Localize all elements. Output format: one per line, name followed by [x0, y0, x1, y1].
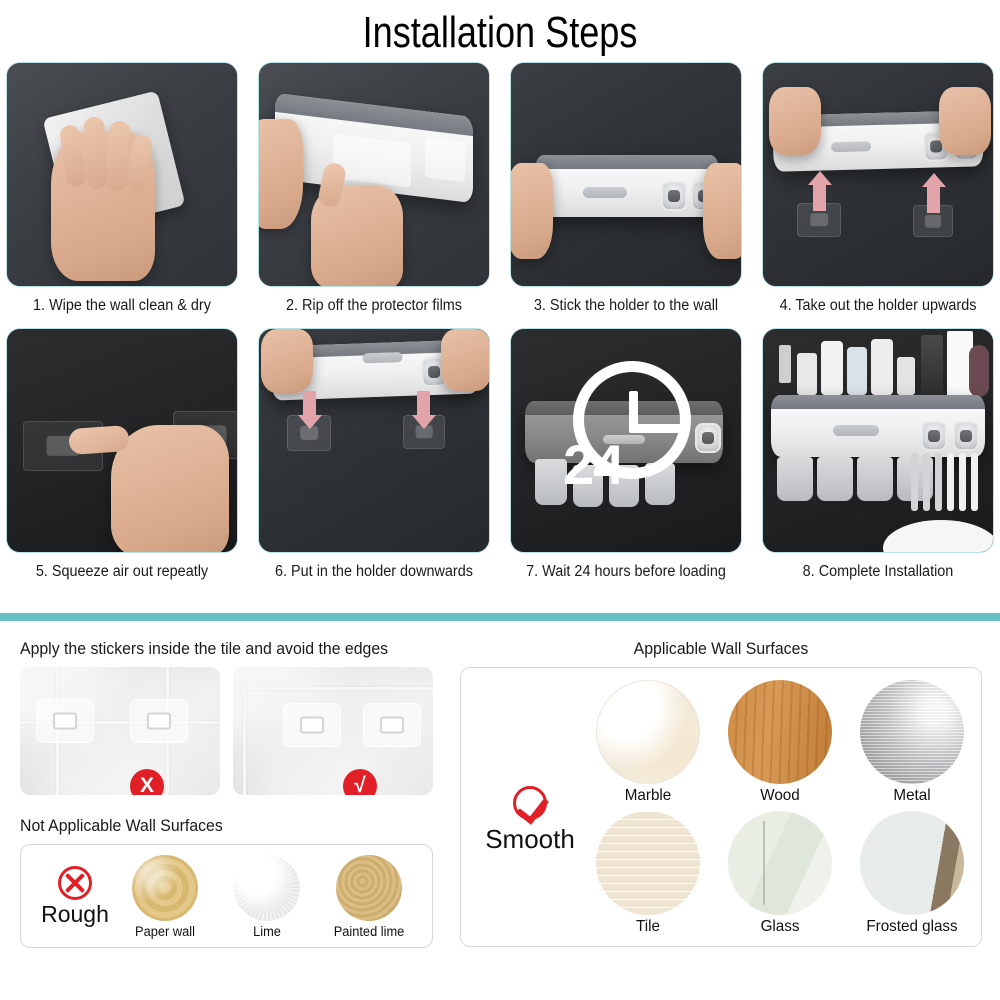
- surface-swatch-wood[interactable]: Wood: [725, 680, 835, 805]
- steps-row-1: 1. Wipe the wall clean & dry 2. Rip off …: [0, 62, 1000, 318]
- step-cell-4: 4. Take out the holder upwards: [755, 62, 1000, 318]
- surface-swatch-tile[interactable]: Tile: [593, 811, 703, 936]
- toiletry-bottle: [821, 341, 843, 395]
- step-photo-8[interactable]: [762, 328, 994, 553]
- sticker-pad-ghost: [36, 699, 94, 743]
- toothpaste-tube: [921, 335, 943, 397]
- page-title: Installation Steps: [90, 0, 910, 62]
- step-caption-3: 3. Stick the holder to the wall: [512, 294, 741, 318]
- glass-texture: [728, 811, 832, 915]
- dispenser-dial: [921, 421, 947, 451]
- sticker-pad-ghost: [130, 699, 188, 743]
- dispenser-dial: [695, 423, 721, 453]
- toiletry-bottle: [779, 345, 791, 383]
- surface-swatch-frosted-glass[interactable]: Frosted glass: [857, 811, 967, 936]
- step-cell-8: 8. Complete Installation: [755, 328, 1000, 584]
- arrow-up-icon: [927, 187, 940, 213]
- arrow-down-icon: [417, 391, 430, 415]
- toiletry-bottle: [847, 347, 867, 395]
- step-photo-3[interactable]: [510, 62, 742, 287]
- not-applicable-heading: Not Applicable Wall Surfaces: [20, 817, 435, 836]
- toothbrush-icon: [971, 453, 978, 511]
- dispenser-dial: [661, 181, 687, 211]
- step-caption-2: 2. Rip off the protector films: [260, 294, 489, 318]
- surfaces-section: Apply the stickers inside the tile and a…: [0, 640, 1000, 1000]
- frosted-glass-label: Frosted glass: [860, 918, 965, 936]
- product-holder: [771, 395, 985, 457]
- marble-label: Marble: [596, 787, 701, 805]
- step-cell-6: 6. Put in the holder downwards: [251, 328, 497, 584]
- step-caption-1: 1. Wipe the wall clean & dry: [8, 294, 237, 318]
- hand-icon: [769, 87, 821, 155]
- smooth-verdict: Smooth: [475, 786, 585, 855]
- tile-seam: [233, 687, 433, 690]
- step-cell-3: 3. Stick the holder to the wall: [503, 62, 749, 318]
- cup-icon: [817, 457, 853, 501]
- not-applicable-panel: Rough Paper wall Lime Painted lime: [20, 844, 433, 948]
- toiletry-bottle: [871, 339, 893, 395]
- hand-icon: [939, 87, 991, 155]
- applicable-row-2: Tile Glass Frosted glass: [593, 811, 971, 936]
- toothbrush-icon: [923, 453, 930, 511]
- finger-icon: [83, 116, 108, 189]
- toothbrush-icon: [947, 453, 954, 511]
- step-caption-7: 7. Wait 24 hours before loading: [512, 560, 741, 584]
- painted-lime-label: Painted lime: [327, 924, 411, 939]
- rough-label: Rough: [29, 901, 121, 928]
- surface-swatch-paper-wall[interactable]: Paper wall: [121, 855, 209, 939]
- product-lid: [771, 395, 985, 409]
- lime-label: Lime: [225, 924, 309, 939]
- pointing-finger-icon: [68, 425, 130, 455]
- toothbrush-icon: [959, 453, 966, 511]
- surface-swatch-painted-lime[interactable]: Painted lime: [325, 855, 413, 939]
- toothbrush-icon: [935, 453, 942, 511]
- surface-swatch-marble[interactable]: Marble: [593, 680, 703, 805]
- tile-label: Tile: [596, 918, 701, 936]
- toiletry-bottle: [797, 353, 817, 395]
- smooth-label: Smooth: [475, 824, 585, 855]
- marble-texture: [596, 680, 700, 784]
- applicable-heading: Applicable Wall Surfaces: [470, 640, 971, 659]
- product-lid: [535, 155, 719, 169]
- step-photo-2[interactable]: [258, 62, 490, 287]
- step-caption-4: 4. Take out the holder upwards: [764, 294, 993, 318]
- tile-section-heading: Apply the stickers inside the tile and a…: [20, 640, 435, 659]
- product-handle-slot: [583, 187, 627, 198]
- lime-texture: [234, 855, 300, 921]
- cup-icon: [777, 457, 813, 501]
- hand-icon: [510, 163, 553, 259]
- product-handle-slot: [833, 425, 879, 436]
- cup-icon: [857, 457, 893, 501]
- rough-swatches: Paper wall Lime Painted lime: [121, 855, 413, 939]
- surface-swatch-metal[interactable]: Metal: [857, 680, 967, 805]
- step-caption-5: 5. Squeeze air out repeatly: [8, 560, 237, 584]
- glass-label: Glass: [728, 918, 833, 936]
- step-cell-2: 2. Rip off the protector films: [251, 62, 497, 318]
- step-photo-5[interactable]: [6, 328, 238, 553]
- step-photo-7[interactable]: 24: [510, 328, 742, 553]
- applicable-row-1: Marble Wood Metal: [593, 680, 971, 805]
- arrow-down-icon: [303, 391, 316, 415]
- surface-swatch-glass[interactable]: Glass: [725, 811, 835, 936]
- product-holder: [535, 155, 719, 217]
- frosted-glass-texture: [860, 811, 964, 915]
- painted-lime-texture: [336, 855, 402, 921]
- product-handle-slot: [831, 141, 871, 152]
- cross-icon: [58, 866, 92, 900]
- hand-icon: [703, 163, 742, 259]
- step-cell-1: 1. Wipe the wall clean & dry: [0, 62, 245, 318]
- product-handle-slot: [362, 352, 402, 363]
- step-photo-4[interactable]: [762, 62, 994, 287]
- check-icon: [513, 786, 547, 820]
- arrow-up-icon: [813, 185, 826, 211]
- section-divider: [0, 613, 1000, 621]
- hand-icon: [258, 119, 303, 229]
- dispenser-dial: [953, 421, 979, 451]
- step-photo-1[interactable]: [6, 62, 238, 287]
- toothbrush-icon: [911, 453, 918, 511]
- metal-label: Metal: [860, 787, 965, 805]
- hand-icon: [441, 329, 490, 391]
- hand-icon: [261, 329, 313, 393]
- sticker-pad-ghost: [283, 703, 341, 747]
- applicable-column: Applicable Wall Surfaces Smooth Marble W…: [452, 640, 1000, 1000]
- rough-verdict: Rough: [29, 866, 121, 928]
- paper-wall-label: Paper wall: [123, 924, 207, 939]
- wood-label: Wood: [728, 787, 833, 805]
- badge-wrong: X: [130, 769, 164, 795]
- tile-texture: [596, 811, 700, 915]
- protector-film: [333, 134, 411, 188]
- metal-texture: [860, 680, 964, 784]
- paper-wall-texture: [132, 855, 198, 921]
- clock-hours-label: 24: [563, 437, 623, 493]
- tile-and-rough-column: Apply the stickers inside the tile and a…: [0, 640, 452, 1000]
- step-cell-7: 24 7. Wait 24 hours before loading: [503, 328, 749, 584]
- steps-row-2: 5. Squeeze air out repeatly 6. Put in th…: [0, 328, 1000, 584]
- applicable-swatch-rows: Marble Wood Metal Tile: [593, 680, 971, 936]
- hand-icon: [111, 425, 229, 553]
- protector-film: [425, 137, 465, 182]
- surface-swatch-lime[interactable]: Lime: [223, 855, 311, 939]
- toiletry-bottle: [897, 357, 915, 395]
- tile-diagram-wrong[interactable]: X: [20, 667, 220, 795]
- tile-diagram-pair: X √: [20, 667, 452, 795]
- sticker-pad-ghost: [363, 703, 421, 747]
- wood-texture: [728, 680, 832, 784]
- badge-correct: √: [343, 769, 377, 795]
- applicable-panel: Smooth Marble Wood Metal: [460, 667, 982, 947]
- step-cell-5: 5. Squeeze air out repeatly: [0, 328, 245, 584]
- tile-seam: [243, 667, 246, 795]
- hairbrush-icon: [969, 345, 989, 397]
- step-caption-8: 8. Complete Installation: [764, 560, 993, 584]
- step-photo-6[interactable]: [258, 328, 490, 553]
- step-caption-6: 6. Put in the holder downwards: [260, 560, 489, 584]
- tile-diagram-correct[interactable]: √: [233, 667, 433, 795]
- clock-hand-minute: [629, 424, 681, 433]
